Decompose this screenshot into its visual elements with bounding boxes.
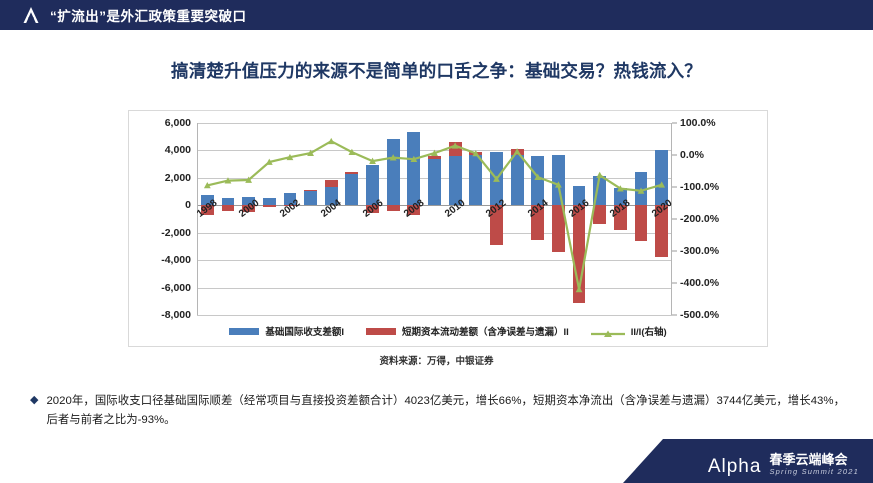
triangle-a-logo-icon [22, 6, 40, 24]
chart-source-note: 资料来源：万得，中银证券 [0, 353, 873, 367]
legend-item-series1: 基础国际收支差额I [229, 324, 344, 338]
y2-axis-tick: -500.0% [680, 309, 719, 321]
y2-axis-tick: -200.0% [680, 213, 719, 225]
footer-en-text: Spring Summit 2021 [769, 467, 859, 477]
footer-cn-text: 春季云端峰会 [769, 452, 847, 467]
y2-axis-tick: -100.0% [680, 181, 719, 193]
legend-swatch-blue [229, 328, 259, 335]
y2-axis-tick: 0.0% [680, 149, 704, 161]
y2-tick-mark [672, 123, 677, 124]
y2-axis-tick: -400.0% [680, 277, 719, 289]
y-axis-tick: 6,000 [165, 117, 191, 129]
y-axis-tick: -4,000 [161, 254, 191, 266]
y2-tick-mark [672, 251, 677, 252]
chart-plot-area: 6,0004,0002,0000-2,000-4,000-6,000-8,000… [197, 123, 672, 315]
footer-content: Alpha 春季云端峰会 Spring Summit 2021 [708, 452, 859, 477]
header-title: “扩流出”是外汇政策重要突破口 [50, 5, 247, 25]
y-axis-tick: 2,000 [165, 172, 191, 184]
y2-axis-tick: -300.0% [680, 245, 719, 257]
chart-container: 6,0004,0002,0000-2,000-4,000-6,000-8,000… [128, 110, 768, 347]
bullet-paragraph: ◆ 2020年，国际收支口径基础国际顺差（经常项目与直接投资差额合计）4023亿… [30, 392, 845, 429]
y-axis-tick: 4,000 [165, 144, 191, 156]
y2-tick-mark [672, 155, 677, 156]
y-axis-tick: -6,000 [161, 282, 191, 294]
gridline [197, 315, 672, 316]
y-axis-tick: 0 [185, 199, 191, 211]
legend-item-series3: II/I(右轴) [591, 324, 667, 338]
page-title: 搞清楚升值压力的来源不是简单的口舌之争：基础交易？热钱流入？ [0, 58, 873, 83]
y2-tick-mark [672, 283, 677, 284]
legend-swatch-green-line [591, 326, 625, 336]
legend-swatch-red [366, 328, 396, 335]
y2-tick-mark [672, 219, 677, 220]
legend-item-series2: 短期资本流动差额（含净误差与遗漏）II [366, 324, 569, 338]
footer-text-stack: 春季云端峰会 Spring Summit 2021 [769, 452, 859, 477]
y2-tick-mark [672, 187, 677, 188]
bullet-text: 2020年，国际收支口径基础国际顺差（经常项目与直接投资差额合计）4023亿美元… [46, 392, 845, 429]
y-axis-tick: -2,000 [161, 227, 191, 239]
y2-axis-tick: 100.0% [680, 117, 716, 129]
header-bar: “扩流出”是外汇政策重要突破口 [0, 0, 873, 30]
legend-label-series1: 基础国际收支差额I [265, 324, 344, 338]
y-axis-tick: -8,000 [161, 309, 191, 321]
footer-brand: Alpha [708, 457, 762, 477]
chart-legend: 基础国际收支差额I 短期资本流动差额（含净误差与遗漏）II II/I(右轴) [129, 324, 767, 338]
bullet-marker-icon: ◆ [30, 392, 38, 409]
footer-banner: Alpha 春季云端峰会 Spring Summit 2021 [623, 439, 873, 483]
line-series-ratio [197, 123, 672, 315]
legend-label-series2: 短期资本流动差额（含净误差与遗漏）II [402, 324, 569, 338]
legend-label-series3: II/I(右轴) [631, 324, 667, 338]
y2-tick-mark [672, 315, 677, 316]
